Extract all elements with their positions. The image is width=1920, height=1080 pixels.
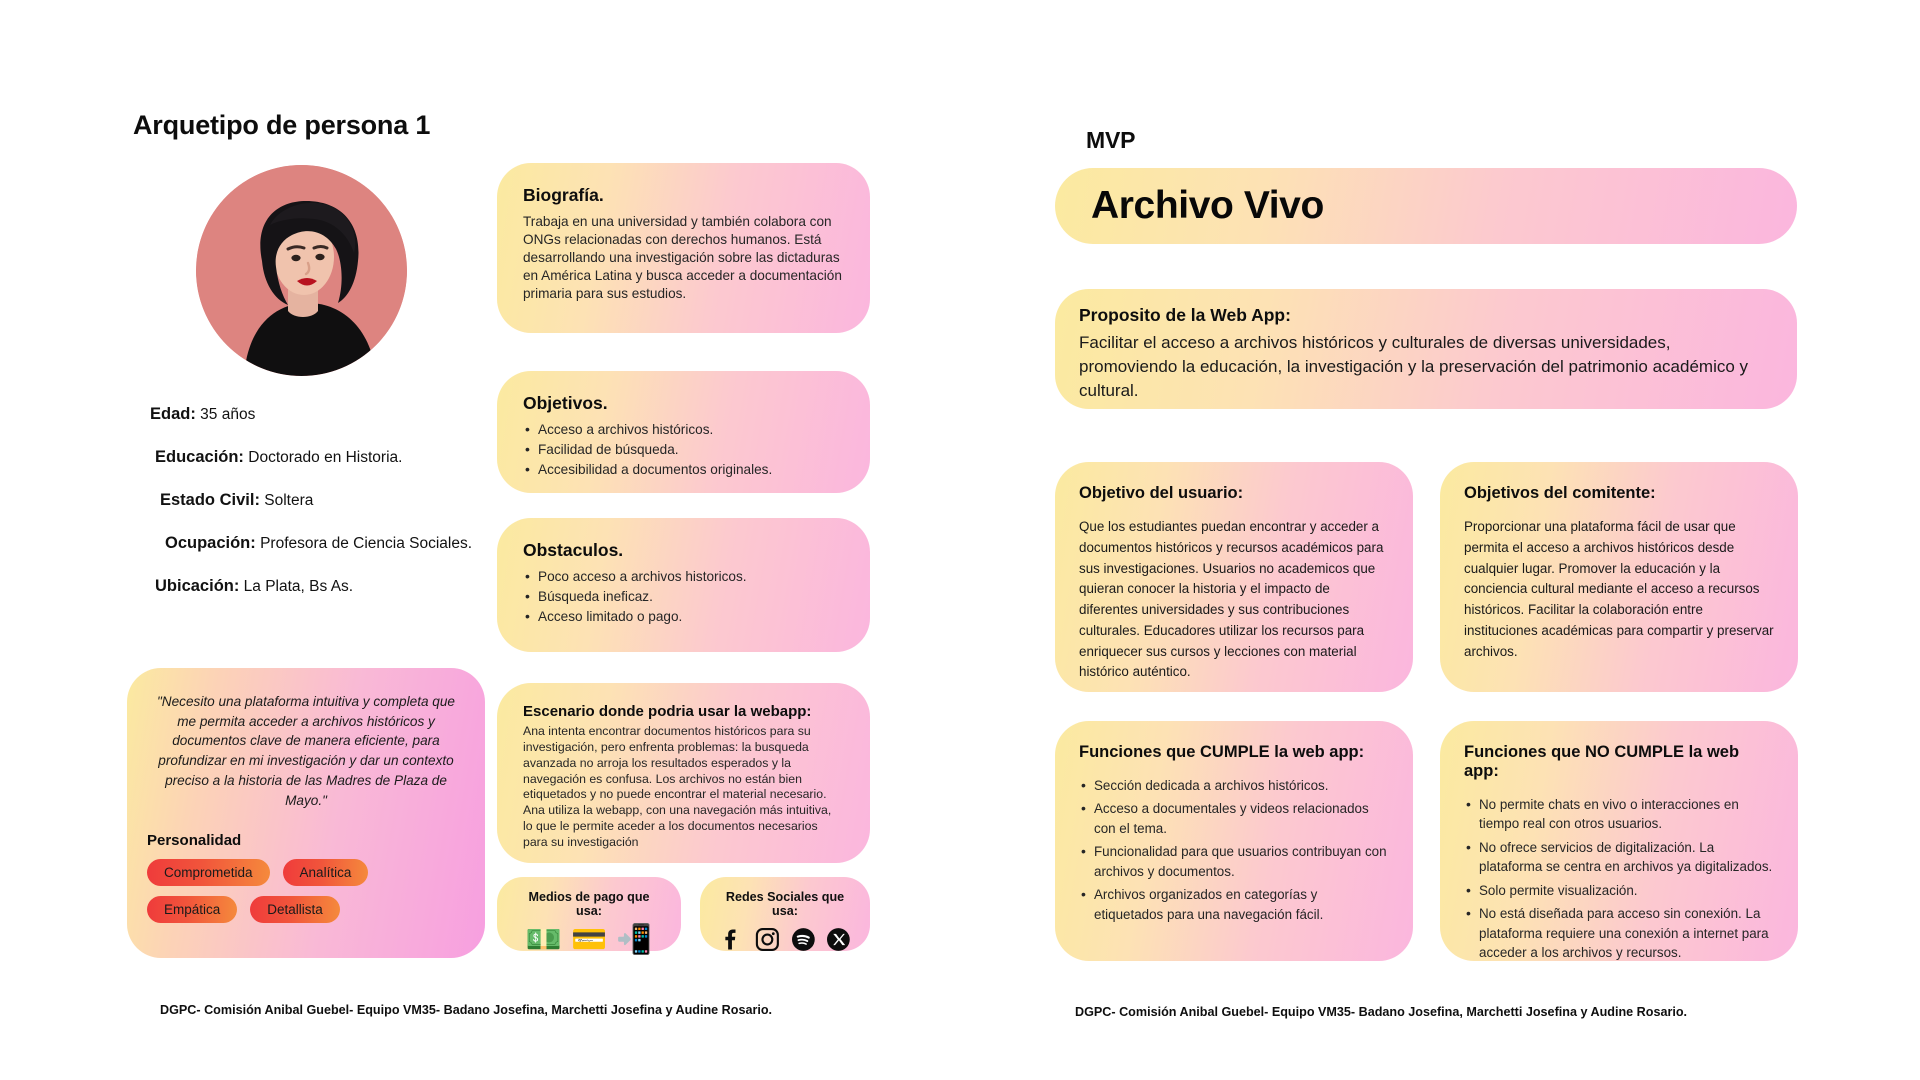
list-item: Solo permite visualización. — [1464, 881, 1774, 900]
list-item: Accesibilidad a documentos originales. — [523, 461, 844, 479]
card-quote-personalidad: "Necesito una plataforma intuitiva y com… — [127, 668, 485, 958]
footer-left: DGPC- Comisión Anibal Guebel- Equipo VM3… — [160, 1003, 772, 1017]
page-title-right: MVP — [1086, 127, 1135, 154]
poster-canvas: Arquetipo de persona 1 — [0, 0, 1920, 1080]
card-biografia-title: Biografía. — [523, 185, 844, 206]
list-item: No permite chats en vivo o interacciones… — [1464, 795, 1774, 834]
payment-icon-row: 💵 💳 📲 — [515, 926, 663, 955]
persona-facts: Edad: 35 años Educación: Doctorado en Hi… — [150, 405, 490, 620]
list-item: No está diseñada para acceso sin conexió… — [1464, 904, 1774, 962]
fact-educacion: Educación: Doctorado en Historia. — [155, 448, 490, 467]
card-funciones-no-cumple: Funciones que NO CUMPLE la web app: No p… — [1440, 721, 1798, 961]
list-item: Archivos organizados en categorías y eti… — [1079, 885, 1389, 924]
avatar — [196, 165, 407, 376]
fact-edad: Edad: 35 años — [150, 405, 490, 424]
card-objetivos: Objetivos. Acceso a archivos históricos.… — [497, 371, 870, 493]
card-proposito: Proposito de la Web App: Facilitar el ac… — [1055, 289, 1797, 409]
list-item: Poco acceso a archivos historicos. — [523, 568, 844, 586]
card-medios-pago: Medios de pago que usa: 💵 💳 📲 — [497, 877, 681, 951]
instagram-icon[interactable] — [754, 926, 781, 953]
credit-cards-icon[interactable]: 💳 — [571, 926, 607, 955]
card-objetivos-comitente-title: Objetivos del comitente: — [1464, 484, 1774, 503]
card-objetivo-usuario: Objetivo del usuario: Que los estudiante… — [1055, 462, 1413, 692]
list-item: Búsqueda ineficaz. — [523, 588, 844, 606]
social-icon-row — [718, 926, 852, 953]
list-item: Sección dedicada a archivos históricos. — [1079, 776, 1389, 795]
personality-tag[interactable]: Comprometida — [147, 859, 270, 886]
facebook-icon[interactable] — [718, 926, 745, 953]
card-objetivo-usuario-body: Que los estudiantes puedan encontrar y a… — [1079, 517, 1389, 683]
persona-quote: "Necesito una plataforma intuitiva y com… — [127, 678, 485, 814]
fact-ubicacion: Ubicación: La Plata, Bs As. — [155, 577, 490, 596]
fact-ocupacion: Ocupación: Profesora de Ciencia Sociales… — [165, 534, 490, 553]
personality-tag[interactable]: Empática — [147, 896, 237, 923]
mobile-payment-icon[interactable]: 📲 — [616, 926, 652, 955]
list-item: Funcionalidad para que usuarios contribu… — [1079, 842, 1389, 881]
list-item: Acceso a archivos históricos. — [523, 421, 844, 439]
card-objetivo-usuario-title: Objetivo del usuario: — [1079, 484, 1389, 503]
redes-sociales-title: Redes Sociales que usa: — [718, 890, 852, 918]
tag-row-1: Comprometida Analítica — [147, 859, 485, 886]
hero-banner: Archivo Vivo — [1055, 168, 1797, 244]
page-title-left: Arquetipo de persona 1 — [133, 110, 430, 141]
card-objetivos-comitente: Objetivos del comitente: Proporcionar un… — [1440, 462, 1798, 692]
personality-tag[interactable]: Analítica — [283, 859, 369, 886]
tag-row-2: Empática Detallista — [147, 896, 485, 923]
list-item: Facilidad de búsqueda. — [523, 441, 844, 459]
card-funciones-cumple: Funciones que CUMPLE la web app: Sección… — [1055, 721, 1413, 961]
list-item: Acceso limitado o pago. — [523, 608, 844, 626]
card-objetivos-comitente-body: Proporcionar una plataforma fácil de usa… — [1464, 517, 1774, 662]
card-funciones-cumple-title: Funciones que CUMPLE la web app: — [1079, 743, 1389, 762]
card-obstaculos-title: Obstaculos. — [523, 540, 844, 561]
portrait-photo-icon — [196, 165, 407, 376]
fact-estado-civil: Estado Civil: Soltera — [160, 491, 490, 510]
card-escenario-body: Ana intenta encontrar documentos históri… — [523, 724, 844, 851]
card-funciones-no-cumple-title: Funciones que NO CUMPLE la web app: — [1464, 743, 1774, 781]
card-redes-sociales: Redes Sociales que usa: — [700, 877, 870, 951]
medios-pago-title: Medios de pago que usa: — [515, 890, 663, 918]
card-biografia-body: Trabaja en una universidad y también col… — [523, 213, 844, 303]
card-proposito-title: Proposito de la Web App: — [1079, 305, 1773, 326]
spotify-icon[interactable] — [790, 926, 817, 953]
obstaculos-list: Poco acceso a archivos historicos. Búsqu… — [523, 568, 844, 626]
cumple-list: Sección dedicada a archivos históricos. … — [1079, 776, 1389, 924]
list-item: Acceso a documentales y videos relaciona… — [1079, 799, 1389, 838]
hero-title: Archivo Vivo — [1091, 184, 1324, 228]
card-obstaculos: Obstaculos. Poco acceso a archivos histo… — [497, 518, 870, 652]
card-escenario: Escenario donde podria usar la webapp: A… — [497, 683, 870, 863]
card-biografia: Biografía. Trabaja en una universidad y … — [497, 163, 870, 333]
footer-right: DGPC- Comisión Anibal Guebel- Equipo VM3… — [1075, 1005, 1687, 1019]
personality-tag[interactable]: Detallista — [250, 896, 340, 923]
card-proposito-body: Facilitar el acceso a archivos histórico… — [1079, 331, 1773, 403]
x-twitter-icon[interactable] — [825, 926, 852, 953]
card-escenario-title: Escenario donde podria usar la webapp: — [523, 703, 844, 720]
no-cumple-list: No permite chats en vivo o interacciones… — [1464, 795, 1774, 963]
cash-hand-icon[interactable]: 💵 — [526, 926, 562, 955]
objetivos-list: Acceso a archivos históricos. Facilidad … — [523, 421, 844, 479]
list-item: No ofrece servicios de digitalización. L… — [1464, 838, 1774, 877]
card-objetivos-title: Objetivos. — [523, 393, 844, 414]
personalidad-title: Personalidad — [147, 832, 485, 849]
